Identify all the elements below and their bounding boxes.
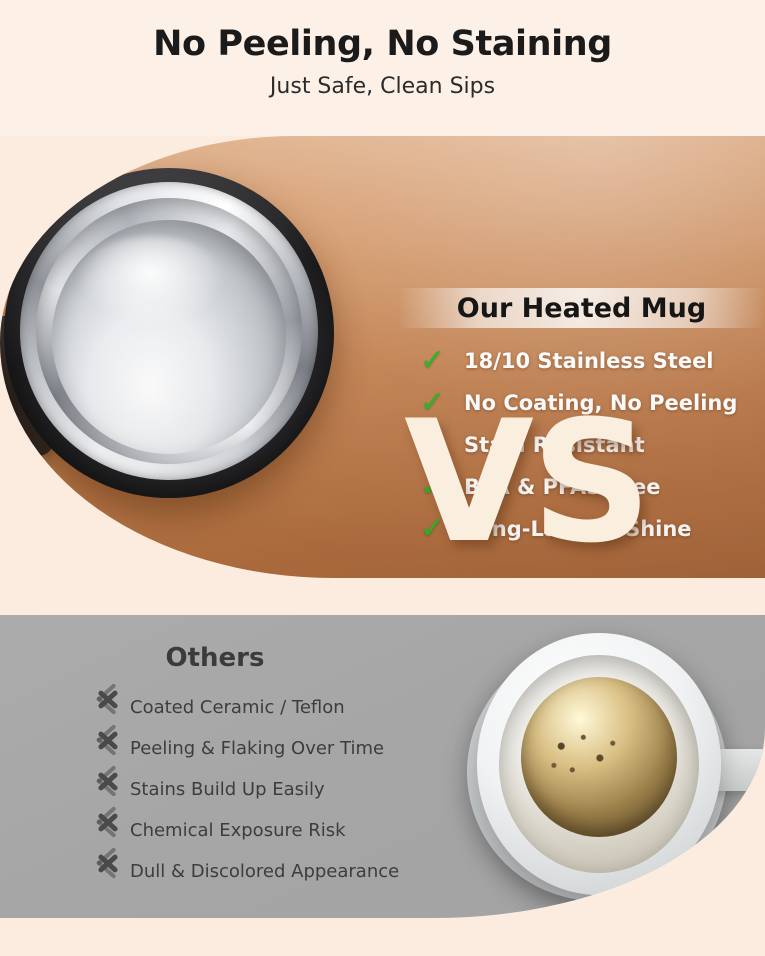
cross-icon [92,736,130,762]
versus-label: VS [404,398,649,566]
list-item: Chemical Exposure Risk [92,810,452,851]
page-headline: No Peeling, No Staining [0,24,765,64]
our-product-title: Our Heated Mug [398,288,765,328]
list-item: Dull & Discolored Appearance [92,851,452,892]
our-product-title-wrap: Our Heated Mug [398,288,765,328]
cons-list: Coated Ceramic / Teflon Peeling & Flakin… [92,687,452,892]
stained-mug-photo [455,625,765,915]
cross-icon [92,859,130,885]
heated-mug-photo [0,164,318,554]
others-panel: Others Coated Ceramic / Teflon Peeling &… [0,615,765,918]
cross-icon [92,818,130,844]
list-item: Coated Ceramic / Teflon [92,687,452,728]
con-label: Coated Ceramic / Teflon [130,697,345,718]
cross-icon [92,777,130,803]
list-item: ✓ 18/10 Stainless Steel [420,340,765,382]
con-label: Peeling & Flaking Over Time [130,738,384,759]
check-icon: ✓ [420,346,464,376]
page-subheadline: Just Safe, Clean Sips [0,74,765,99]
coffee-stain-flecks [541,721,633,795]
con-label: Stains Build Up Easily [130,779,325,800]
mug-highlight-sheen [76,236,226,328]
list-item: Stains Build Up Easily [92,769,452,810]
pro-label: 18/10 Stainless Steel [464,349,714,373]
cross-icon [92,695,130,721]
header-banner: No Peeling, No Staining Just Safe, Clean… [0,0,765,136]
others-title: Others [0,643,430,673]
our-product-panel: Our Heated Mug ✓ 18/10 Stainless Steel ✓… [0,136,765,578]
list-item: Peeling & Flaking Over Time [92,728,452,769]
con-label: Chemical Exposure Risk [130,820,346,841]
con-label: Dull & Discolored Appearance [130,861,399,882]
